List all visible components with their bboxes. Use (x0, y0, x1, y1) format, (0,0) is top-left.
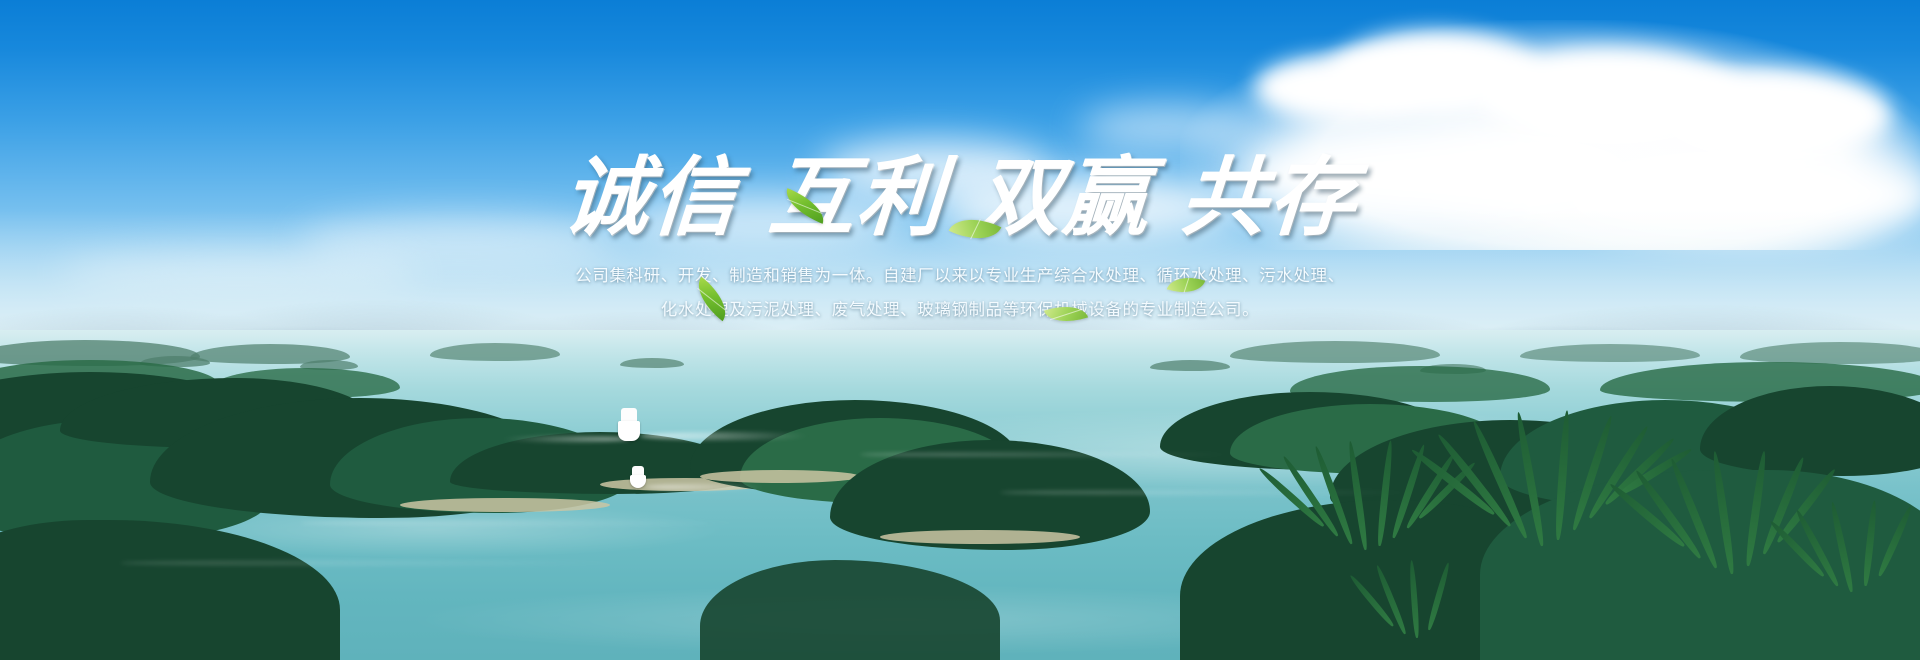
island-shoreline (700, 470, 860, 483)
leaf-vein (1183, 277, 1189, 293)
headline-word-4: 共存 (1178, 150, 1361, 246)
island-far (430, 343, 560, 361)
leaf-vein (970, 219, 980, 239)
water-wake-line (120, 560, 640, 566)
small-boat (630, 466, 646, 488)
island-shoreline (880, 530, 1080, 544)
foreground-pine-branches (1160, 410, 1920, 660)
boat-wake (646, 484, 766, 490)
hero-text-block: 诚信互利双赢共存 公司集科研、开发、制造和销售为一体。自建厂以来以专业生产综合水… (0, 0, 1920, 327)
island-far (1230, 341, 1440, 363)
island-far (1520, 344, 1700, 362)
water-wake-line (300, 520, 760, 526)
island-shoreline (400, 498, 610, 512)
islet (620, 358, 684, 368)
boat-deck (621, 408, 637, 421)
company-description: 公司集科研、开发、制造和销售为一体。自建厂以来以专业生产综合水处理、循环水处理、… (0, 259, 1920, 327)
boat-wake (640, 432, 810, 440)
boat-wake (500, 436, 630, 442)
boat-hull (630, 475, 646, 488)
hero-banner: 诚信互利双赢共存 公司集科研、开发、制造和销售为一体。自建厂以来以专业生产综合水… (0, 0, 1920, 660)
islet (1150, 360, 1230, 371)
cruise-boat (618, 408, 640, 440)
headline-word-3: 双赢 (972, 150, 1155, 246)
description-line-1: 公司集科研、开发、制造和销售为一体。自建厂以来以专业生产综合水处理、循环水处理、… (0, 259, 1920, 293)
leaf-vein (1050, 309, 1082, 320)
headline-word-1: 诚信 (560, 150, 743, 246)
description-line-2: 化水处理及污泥处理、废气处理、玻璃钢制品等环保机械设备的专业制造公司。 (0, 293, 1920, 327)
boat-deck (632, 466, 644, 475)
